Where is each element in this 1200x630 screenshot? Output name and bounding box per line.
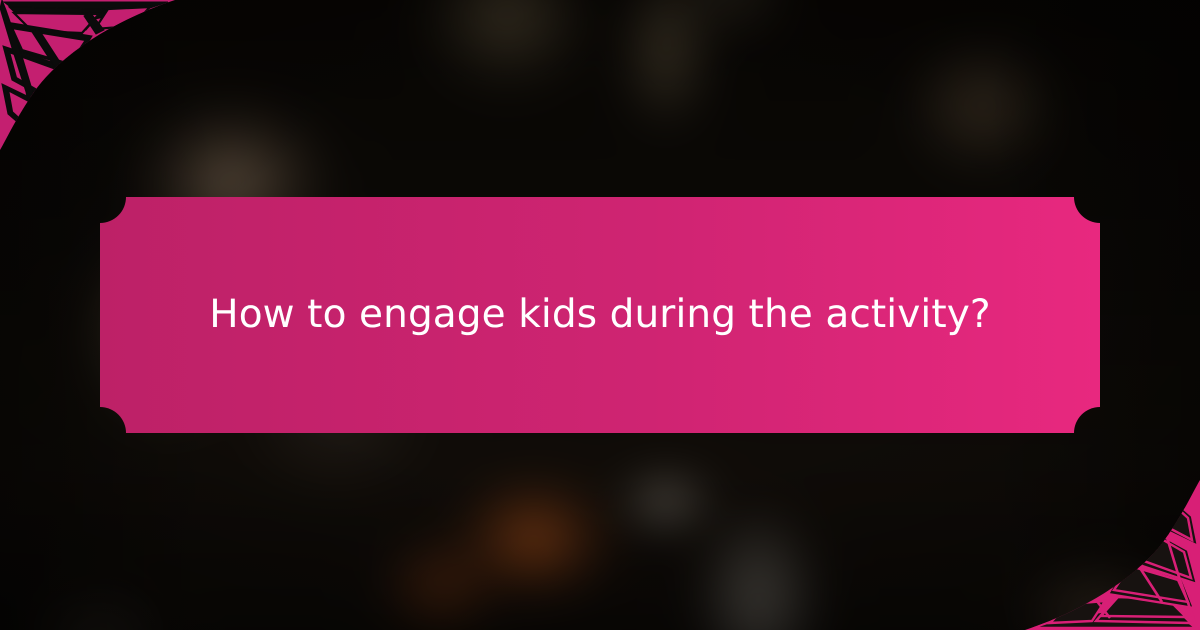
page-title: How to engage kids during the activity?: [100, 197, 1100, 433]
headline-banner: How to engage kids during the activity?: [100, 197, 1100, 433]
corner-ornament-bottom-right: [1025, 480, 1200, 630]
corner-ornament-top-left: [0, 0, 175, 150]
social-card: How to engage kids during the activity?: [0, 0, 1200, 630]
